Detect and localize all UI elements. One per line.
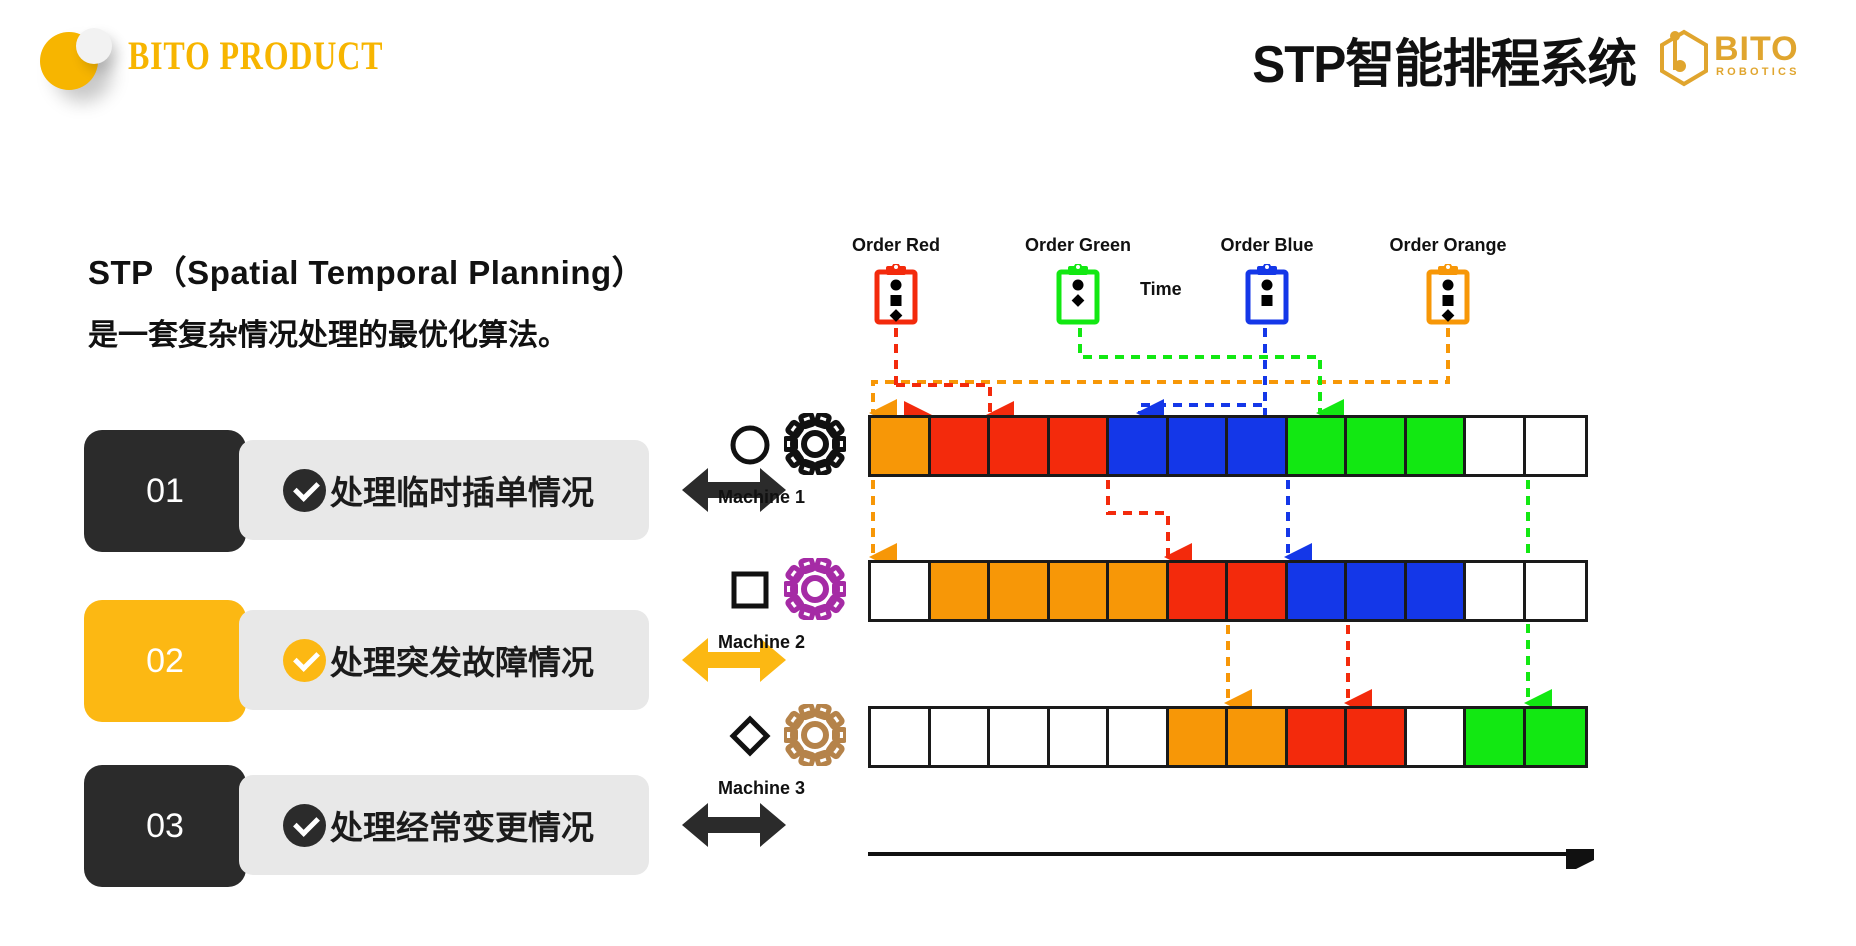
timeline-cell[interactable] [1169, 709, 1229, 765]
clipboard-icon-orange [1424, 264, 1472, 326]
timeline-cell[interactable] [1228, 709, 1288, 765]
gantt-chart: Order Red Order Green Order Blue Order O… [840, 265, 1840, 905]
timeline-cell[interactable] [1466, 418, 1526, 474]
feature-number-badge-03: 03 [84, 765, 246, 887]
bito-wordmark: BITO [1714, 30, 1799, 69]
machine-shape-diamond-icon [728, 714, 772, 758]
timeline-cell[interactable] [1347, 709, 1407, 765]
timeline-cell[interactable] [1288, 709, 1348, 765]
timeline-cell[interactable] [1407, 418, 1467, 474]
timeline-cell[interactable] [931, 418, 991, 474]
stp-definition-line: STP（Spatial Temporal Planning） [88, 246, 728, 294]
feature-pill-02[interactable]: 处理突发故障情况 [239, 610, 649, 710]
timeline-cell[interactable] [1347, 563, 1407, 619]
order-label: Order Blue [1207, 235, 1327, 256]
timeline-cell[interactable] [990, 418, 1050, 474]
timeline-cell[interactable] [990, 709, 1050, 765]
order-label: Order Orange [1388, 235, 1508, 256]
timeline-cell[interactable] [1288, 418, 1348, 474]
order-label: Order Green [1018, 235, 1138, 256]
feature-number-badge-02: 02 [84, 600, 246, 722]
logo-circle-small [76, 28, 112, 64]
timeline-cell[interactable] [871, 709, 931, 765]
check-circle-icon [283, 804, 326, 847]
timeline-cell[interactable] [871, 418, 931, 474]
timeline-cell[interactable] [871, 563, 931, 619]
clipboard-icon-red [872, 264, 920, 326]
timeline-cell[interactable] [1288, 563, 1348, 619]
timeline-cell[interactable] [1228, 418, 1288, 474]
timeline-cell[interactable] [990, 563, 1050, 619]
machine-timeline-2[interactable] [868, 560, 1588, 622]
check-circle-icon [283, 469, 326, 512]
order-card-orange[interactable]: Order Orange [1388, 235, 1508, 326]
time-axis [868, 849, 1586, 883]
feature-pill-03[interactable]: 处理经常变更情况 [239, 775, 649, 875]
timeline-cell[interactable] [1466, 709, 1526, 765]
feature-label-03: 处理经常变更情况 [330, 801, 594, 849]
clipboard-icon-green [1054, 264, 1102, 326]
timeline-cell[interactable] [1109, 418, 1169, 474]
machine-timeline-3[interactable] [868, 706, 1588, 768]
bito-product-logo-icon [40, 28, 112, 88]
timeline-cell[interactable] [1109, 709, 1169, 765]
timeline-cell[interactable] [1050, 709, 1110, 765]
feature-number-badge-01: 01 [84, 430, 246, 552]
order-card-blue[interactable]: Order Blue [1207, 235, 1327, 326]
timeline-cell[interactable] [1407, 563, 1467, 619]
timeline-cell[interactable] [1466, 563, 1526, 619]
time-axis-label: Time [1140, 279, 1182, 300]
timeline-cell[interactable] [1526, 709, 1586, 765]
timeline-cell[interactable] [1228, 563, 1288, 619]
bito-hexagon-icon [1656, 26, 1712, 90]
bito-tagline: ROBOTICS [1716, 66, 1800, 78]
gear-icon-machine-2 [784, 558, 846, 620]
order-label: Order Red [836, 235, 956, 256]
gear-icon-machine-1 [784, 413, 846, 475]
order-card-red[interactable]: Order Red [836, 235, 956, 326]
machine-label-2: Machine 2 [718, 632, 805, 653]
timeline-cell[interactable] [1050, 418, 1110, 474]
clipboard-icon-blue [1243, 264, 1291, 326]
timeline-cell[interactable] [1347, 418, 1407, 474]
timeline-cell[interactable] [1109, 563, 1169, 619]
timeline-cell[interactable] [931, 709, 991, 765]
timeline-cell[interactable] [1050, 563, 1110, 619]
feature-pill-01[interactable]: 处理临时插单情况 [239, 440, 649, 540]
page-title: STP智能排程系统 [1252, 22, 1636, 97]
machine-timeline-1[interactable] [868, 415, 1588, 477]
timeline-cell[interactable] [931, 563, 991, 619]
machine-shape-square-icon [728, 568, 772, 612]
brand-title: BITO PRODUCT [128, 32, 383, 79]
feature-row-02[interactable]: 02 处理突发故障情况 [84, 600, 784, 722]
machine-label-3: Machine 3 [718, 778, 805, 799]
feature-row-01[interactable]: 01 处理临时插单情况 [84, 430, 784, 552]
timeline-cell[interactable] [1526, 418, 1586, 474]
check-circle-icon [283, 639, 326, 682]
gear-icon-machine-3 [784, 704, 846, 766]
timeline-cell[interactable] [1169, 418, 1229, 474]
timeline-cell[interactable] [1407, 709, 1467, 765]
feature-label-01: 处理临时插单情况 [330, 466, 594, 514]
feature-label-02: 处理突发故障情况 [330, 636, 594, 684]
machine-shape-circle-icon [728, 423, 772, 467]
timeline-cell[interactable] [1526, 563, 1586, 619]
double-arrow-icon-03 [682, 797, 786, 853]
intro-text-block: STP（Spatial Temporal Planning） 是一套复杂情况处理… [88, 246, 728, 354]
bito-robotics-logo: BITO ROBOTICS [1656, 26, 1818, 90]
feature-row-03[interactable]: 03 处理经常变更情况 [84, 765, 784, 887]
stp-description-line: 是一套复杂情况处理的最优化算法。 [88, 310, 728, 354]
page-header: BITO PRODUCT STP智能排程系统 BITO ROBOTICS [0, 0, 1856, 115]
timeline-cell[interactable] [1169, 563, 1229, 619]
order-card-green[interactable]: Order Green [1018, 235, 1138, 326]
machine-label-1: Machine 1 [718, 487, 805, 508]
